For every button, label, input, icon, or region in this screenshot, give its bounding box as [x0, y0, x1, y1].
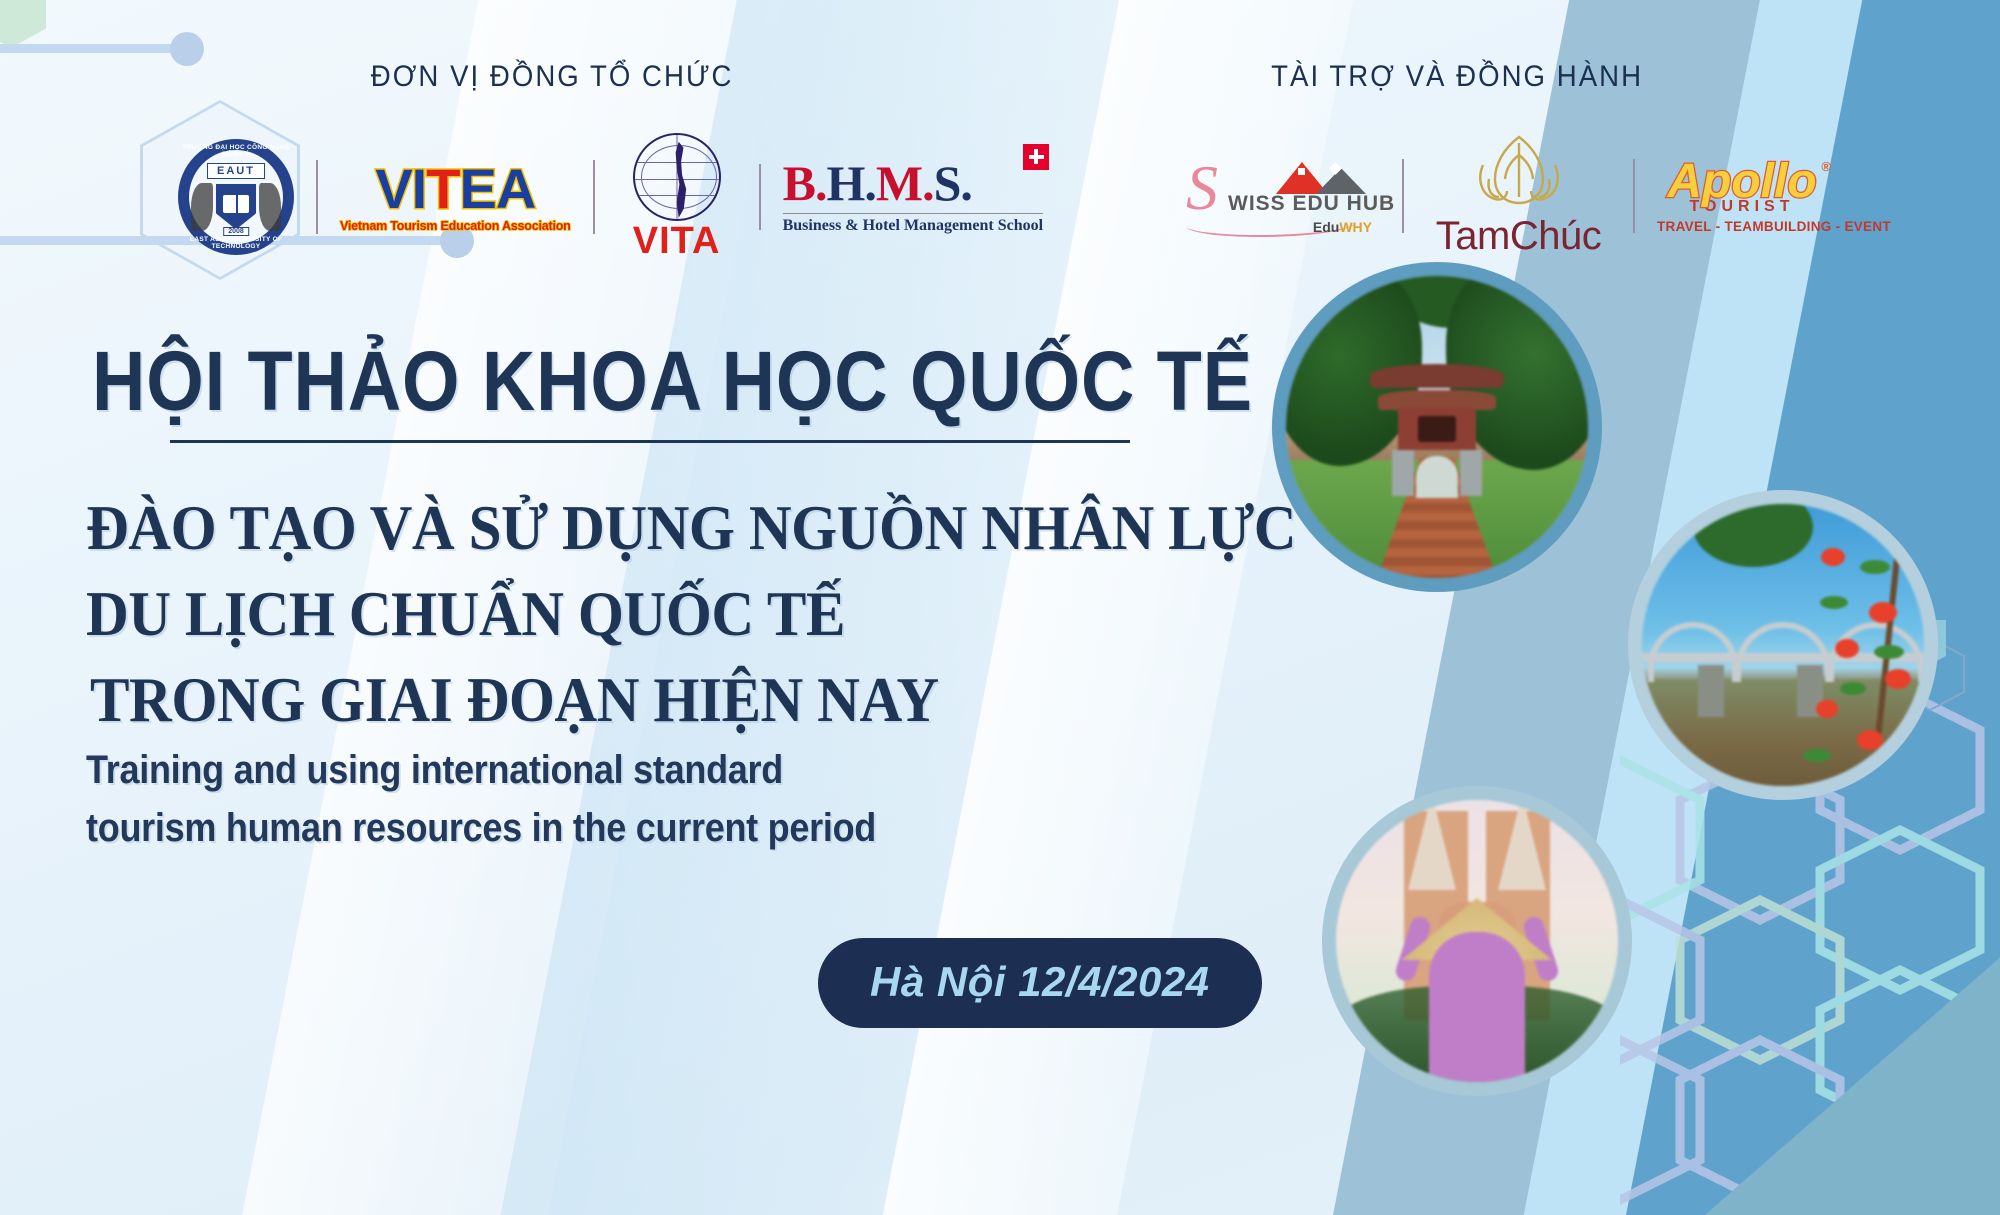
gate-pillar-right — [1460, 450, 1482, 496]
eaut-arc-bottom-text: EAST ASIA UNIVERSITY OF TECHNOLOGY — [178, 236, 294, 250]
organizers-section-label: ĐƠN VỊ ĐỒNG TỔ CHỨC — [371, 60, 734, 94]
vitea-wordmark: VITEA — [340, 161, 571, 217]
decor-dot-1 — [170, 32, 204, 66]
phoenix-flower-branch — [1744, 504, 1919, 786]
eduwhy-tagline: EduWHY — [1313, 219, 1372, 235]
eduwhy-part-2: WHY — [1339, 219, 1372, 235]
vitea-word-part-1: VI — [375, 157, 426, 220]
apollo-wordmark: Apollo® — [1657, 158, 1827, 206]
flower — [1851, 505, 1873, 522]
open-book-icon — [223, 195, 249, 213]
vitea-subtitle: Vietnam Tourism Education Association — [340, 219, 571, 233]
english-subtitle-line-2: tourism human resources in the current p… — [86, 806, 876, 851]
eduwhy-part-1: Edu — [1313, 219, 1339, 235]
swiss-edu-hub-logo: S WISS EDU HUB EduWHY — [1180, 148, 1380, 243]
gate-roof-lower — [1378, 390, 1496, 410]
page-title: HỘI THẢO KHOA HỌC QUỐC TẾ — [92, 333, 1253, 430]
eaut-arc-top-text: TRƯỜNG ĐẠI HỌC CÔNG NGHỆ ĐÔNG Á — [178, 144, 294, 158]
bhms-wordmark: B.H.M.S. — [783, 158, 1043, 208]
organizer-logo-row: TRƯỜNG ĐẠI HỌC CÔNG NGHỆ ĐÔNG Á EAUT 200… — [178, 133, 1043, 260]
leaf — [1874, 645, 1904, 659]
title-underline — [170, 440, 1130, 443]
decor-line-1 — [0, 44, 180, 53]
photo-trang-tien-bridge-hue — [1628, 490, 1938, 800]
eaut-acronym: EAUT — [207, 163, 265, 179]
flower — [1835, 639, 1859, 658]
leaf — [1860, 560, 1890, 574]
flower — [1821, 548, 1845, 566]
subtitle-line-1: ĐÀO TẠO VÀ SỬ DỤNG NGUỒN NHÂN LỰC — [86, 492, 1296, 565]
vitea-logo: VITEA Vietnam Tourism Education Associat… — [340, 161, 571, 233]
leaf — [1840, 682, 1866, 695]
tamchuc-wordmark: TamChúc — [1426, 216, 1611, 256]
apollo-tagline: TRAVEL - TEAMBUILDING - EVENT — [1657, 219, 1827, 234]
apollo-word-text: Apollo — [1667, 155, 1816, 208]
flower — [1885, 669, 1911, 689]
sponsor-divider-1 — [1402, 159, 1404, 233]
sponsor-logo-row: S WISS EDU HUB EduWHY — [1180, 135, 1827, 256]
bhms-letter-s: S. — [934, 155, 972, 211]
lotus-leaf-icon — [1473, 135, 1565, 207]
apollo-tourist-logo: Apollo® TOURIST TRAVEL - TEAMBUILDING - … — [1657, 158, 1827, 234]
swiss-flag-icon — [1023, 144, 1049, 170]
vita-wordmark: VITA — [617, 222, 737, 260]
bhms-letter-b: B. — [783, 155, 827, 211]
gate-window — [1418, 416, 1456, 442]
flower — [1882, 523, 1908, 543]
ao-dai-figure — [1429, 932, 1525, 1082]
vitea-word-part-2: T — [426, 157, 459, 220]
vita-logo: VITA — [617, 133, 737, 260]
gate-roof-upper — [1370, 364, 1504, 388]
eaut-laurel-left-icon — [191, 183, 213, 231]
globe-icon — [633, 133, 721, 221]
flower — [1857, 730, 1883, 750]
photo-2-image — [1642, 504, 1924, 786]
english-subtitle-line-1: Training and using international standar… — [86, 748, 783, 793]
logo-divider-1 — [316, 160, 318, 234]
vitea-word-part-3: EA — [459, 157, 535, 220]
temple-gate — [1384, 364, 1490, 484]
bhms-rule — [783, 213, 1043, 215]
mountain-peak-red — [1276, 162, 1328, 194]
gate-pillar-left — [1392, 450, 1414, 496]
cathedral-spire-left — [1408, 800, 1456, 890]
logo-divider-2 — [593, 160, 595, 234]
sponsor-divider-2 — [1633, 159, 1635, 233]
subtitle-line-2: DU LỊCH CHUẨN QUỐC TẾ — [86, 578, 845, 651]
cathedral-spire-right — [1498, 800, 1546, 890]
bhms-letter-m: M. — [876, 155, 934, 211]
corner-hexagon-icon — [0, 0, 46, 48]
photo-temple-of-literature-hanoi — [1272, 262, 1602, 592]
logo-divider-3 — [759, 164, 761, 230]
event-date-badge: Hà Nội 12/4/2024 — [818, 938, 1262, 1028]
eaut-founding-year: 2008 — [223, 227, 249, 236]
subtitle-line-3: TRONG GIAI ĐOẠN HIỆN NAY — [90, 664, 939, 737]
swiss-edu-hub-swirl-icon: S — [1186, 162, 1218, 213]
bridge-pier-1 — [1698, 665, 1724, 717]
registered-mark-icon: ® — [1821, 160, 1831, 173]
mountain-peak-gray — [1316, 168, 1366, 194]
bhms-letter-h: H. — [826, 155, 875, 211]
flower — [1816, 700, 1838, 718]
eaut-laurel-right-icon — [259, 183, 281, 231]
sponsors-section-label: TÀI TRỢ VÀ ĐỒNG HÀNH — [1271, 60, 1643, 94]
gate-archway — [1416, 456, 1458, 498]
eaut-university-logo: TRƯỜNG ĐẠI HỌC CÔNG NGHỆ ĐÔNG Á EAUT 200… — [178, 139, 294, 255]
photo-3-image — [1336, 800, 1618, 1082]
mountain-icon — [1276, 160, 1366, 194]
swiss-cross-icon — [1298, 168, 1305, 175]
bhms-logo: B.H.M.S. Business & Hotel Management Sch… — [783, 158, 1043, 236]
leaf — [1803, 749, 1831, 762]
photo-1-image — [1286, 276, 1588, 578]
leaf — [1820, 596, 1848, 609]
bhms-subtitle: Business & Hotel Management School — [783, 217, 1043, 235]
photo-saigon-notre-dame-cathedral — [1322, 786, 1632, 1096]
conference-poster: ĐƠN VỊ ĐỒNG TỔ CHỨC TÀI TRỢ VÀ ĐỒNG HÀNH… — [0, 0, 2000, 1215]
tamchuc-logo: TamChúc — [1426, 135, 1611, 256]
